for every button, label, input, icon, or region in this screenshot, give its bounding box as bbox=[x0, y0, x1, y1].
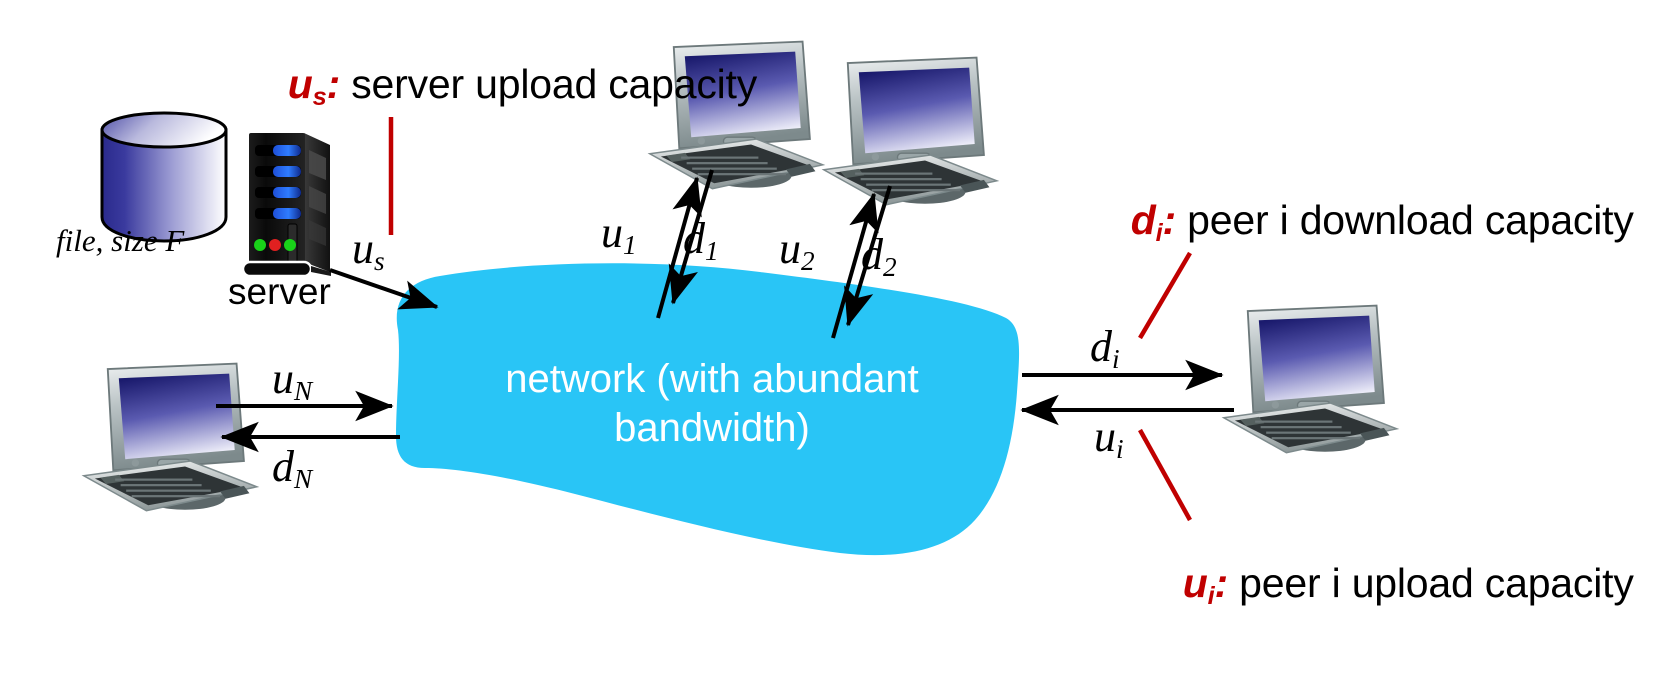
callout-symbol-di: di: bbox=[1131, 197, 1176, 243]
link-label-dN: dN bbox=[272, 442, 312, 494]
server-label: server bbox=[228, 271, 331, 312]
callout-peer-download-capacity: di: peer i download capacity bbox=[1086, 152, 1506, 293]
link-label-uN: uN bbox=[272, 354, 312, 406]
callout-text-peer-download: peer i download capacity bbox=[1176, 197, 1634, 243]
diagram-canvas: us: server upload capacity di: peer i do… bbox=[0, 0, 1654, 696]
callout-peer-upload-capacity: ui: peer i upload capacity bbox=[1138, 515, 1538, 656]
callout-text-server-upload: server upload capacity bbox=[340, 61, 757, 107]
cloud-label: network (with abundant bandwidth) bbox=[432, 355, 992, 453]
link-label-u2: u2 bbox=[779, 224, 815, 276]
file-size-label: file, size F bbox=[56, 224, 184, 259]
file-cylinder-icon bbox=[102, 113, 226, 241]
callout-server-upload-capacity: us: server upload capacity bbox=[243, 16, 643, 157]
peer-i-computer-icon bbox=[1224, 306, 1397, 453]
callout-symbol-ui: ui: bbox=[1183, 560, 1228, 606]
link-label-u1: u1 bbox=[601, 208, 637, 260]
link-label-us: us bbox=[352, 224, 385, 276]
link-label-d1: d1 bbox=[683, 214, 719, 266]
link-label-di: di bbox=[1090, 322, 1120, 374]
link-label-ui: ui bbox=[1094, 412, 1124, 464]
callout-text-peer-upload: peer i upload capacity bbox=[1228, 560, 1634, 606]
callout-leader-peer-upload bbox=[1140, 430, 1190, 520]
callout-symbol-us: us: bbox=[288, 61, 340, 107]
link-label-d2: d2 bbox=[861, 230, 897, 282]
peer-2-computer-icon bbox=[824, 58, 997, 205]
